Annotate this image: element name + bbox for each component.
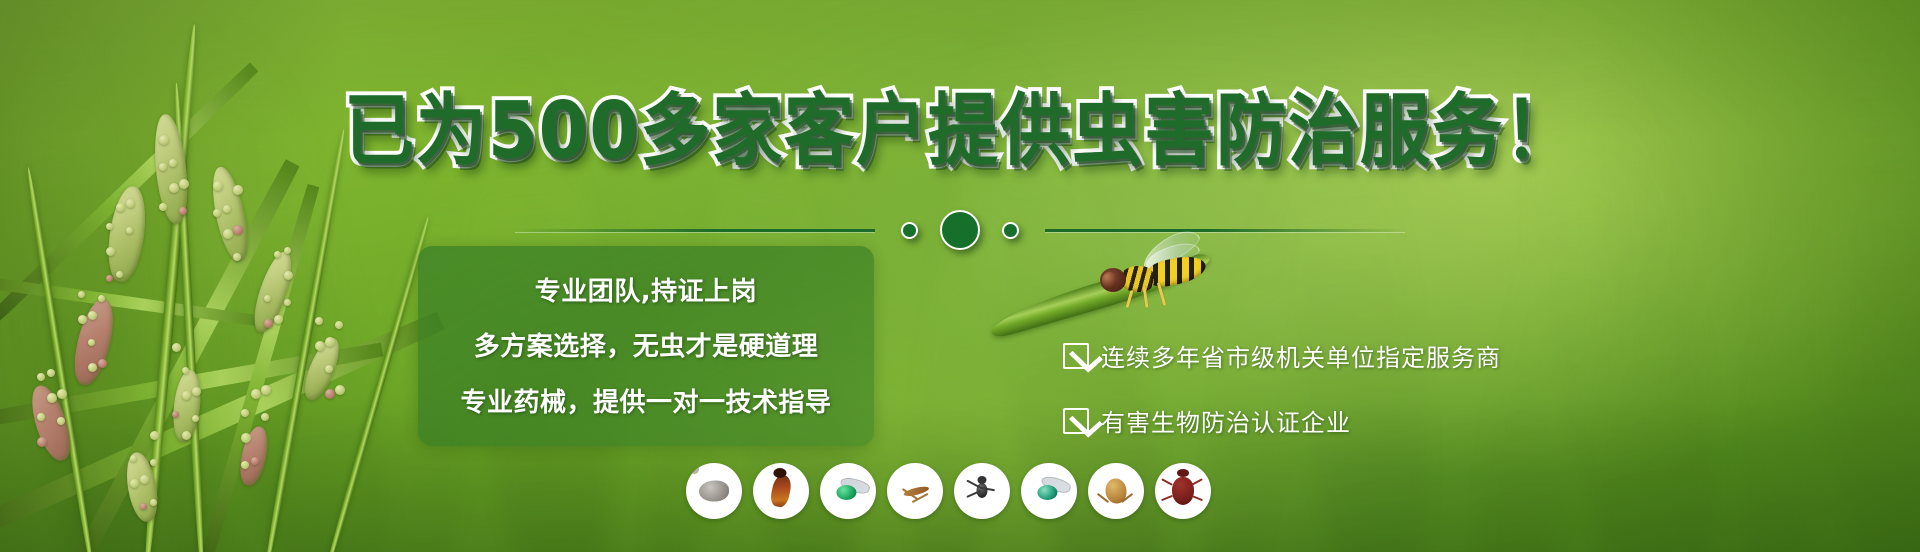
bedbug-leg-4: [1191, 495, 1203, 501]
divider-line-right: [1045, 229, 1405, 232]
plant-bud: [261, 413, 269, 421]
ant-icon[interactable]: [954, 463, 1010, 519]
plant-bud: [261, 385, 271, 395]
plant-spikelet: [248, 248, 299, 336]
plant-bud: [88, 339, 95, 346]
plant-bud: [116, 271, 123, 278]
plant-bud: [106, 275, 113, 282]
list-item: 连续多年省市级机关单位指定服务商: [1063, 338, 1501, 373]
plant-bud: [241, 461, 249, 469]
mouse-icon[interactable]: [686, 463, 742, 519]
plant-bud: [88, 363, 97, 372]
plant-bud: [325, 337, 335, 347]
bullet-label: 有害生物防治认证企业: [1101, 403, 1351, 438]
plant-bud: [88, 311, 97, 320]
bedbug-leg-3: [1161, 495, 1173, 501]
plant-bud: [182, 391, 191, 400]
plant-bud: [57, 417, 65, 425]
green-fly-icon[interactable]: [820, 463, 876, 519]
plant-bud: [241, 433, 251, 443]
plant-bud: [98, 359, 107, 368]
certification-bullet-list: 连续多年省市级机关单位指定服务商 有害生物防治认证企业: [1063, 338, 1501, 438]
banner-headline-text: 已为500多家客户提供虫害防治服务！: [344, 68, 1576, 181]
plant-bud: [172, 411, 179, 418]
plant-bud: [47, 369, 55, 377]
decorative-dot-small-left: [901, 222, 918, 239]
plant-bud: [98, 295, 105, 302]
plant-bud: [182, 431, 191, 440]
plant-bud: [150, 431, 159, 440]
plant-bud: [233, 185, 243, 195]
plant-bud: [130, 479, 139, 488]
checkbox-checked-icon: [1063, 408, 1089, 434]
plant-bud: [274, 315, 283, 324]
plant-bud: [315, 341, 325, 351]
list-item: 有害生物防治认证企业: [1063, 403, 1501, 438]
plant-bud: [140, 475, 149, 484]
plant-bud: [264, 295, 271, 302]
plant-bud: [57, 389, 67, 399]
bedbug-leg-1: [1161, 478, 1173, 485]
mosquito-icon[interactable]: [887, 463, 943, 519]
plant-bud: [140, 503, 147, 510]
feature-panel: 专业团队,持证上岗 多方案选择，无虫才是硬道理 专业药械，提供一对一技术指导: [418, 246, 874, 446]
plant-stalk: [320, 216, 431, 552]
flea-icon[interactable]: [1088, 463, 1144, 519]
feature-panel-line-1: 专业团队,持证上岗: [535, 271, 757, 308]
plant-bud: [37, 437, 47, 447]
mouse-ear: [690, 465, 699, 474]
plant-bud: [192, 415, 199, 422]
decorative-dot-small-right: [1002, 222, 1019, 239]
plant-bud: [179, 179, 189, 189]
plant-bud: [78, 315, 87, 324]
plant-bud: [37, 413, 45, 421]
fly-icon[interactable]: [1021, 463, 1077, 519]
plant-bud: [264, 319, 273, 328]
fly-body: [1037, 485, 1057, 500]
plant-bud: [335, 321, 343, 329]
plant-bud: [182, 367, 189, 374]
cockroach-icon[interactable]: [753, 463, 809, 519]
plant-bud: [241, 409, 249, 417]
banner-headline: 已为500多家客户提供虫害防治服务！: [0, 74, 1920, 175]
plant-bud: [192, 387, 201, 396]
cockroach-head: [773, 468, 786, 478]
plant-bud: [150, 459, 157, 466]
bullet-label: 连续多年省市级机关单位指定服务商: [1101, 338, 1501, 373]
hoverfly-icon: [1094, 240, 1210, 310]
hoverfly-eye: [1102, 272, 1117, 289]
ant-head: [978, 476, 987, 484]
decorative-dot-large: [940, 210, 980, 250]
hoverfly-leg-1: [1126, 290, 1134, 308]
bedbug-head: [1177, 469, 1189, 477]
plant-bud: [78, 291, 85, 298]
pest-type-icon-row: [686, 463, 1211, 519]
mouse-body: [699, 481, 729, 502]
divider-line-left: [515, 229, 875, 232]
plant-bud: [315, 317, 323, 325]
bedbug-body: [1172, 477, 1194, 505]
plant-bud: [335, 385, 345, 395]
plant-bud: [284, 299, 291, 306]
checkbox-checked-icon: [1063, 343, 1089, 369]
plant-bud: [213, 181, 223, 191]
plant-bud: [169, 183, 179, 193]
plant-bud: [274, 251, 281, 258]
pest-control-hero-banner: 已为500多家客户提供虫害防治服务！ 专业团队,持证上岗 多方案选择，无虫才是硬…: [0, 0, 1920, 552]
plant-bud: [251, 389, 261, 399]
feature-panel-line-3: 专业药械，提供一对一技术指导: [460, 382, 831, 419]
plant-bud: [37, 373, 45, 381]
plant-bud: [251, 457, 259, 465]
bedbug-leg-2: [1191, 478, 1203, 485]
plant-bud: [233, 253, 241, 261]
decorative-divider: [0, 210, 1920, 250]
feature-panel-line-2: 多方案选择，无虫才是硬道理: [474, 326, 819, 363]
plant-bud: [47, 393, 57, 403]
plant-bud: [172, 343, 181, 352]
plant-bud: [325, 389, 335, 399]
plant-bud: [130, 455, 137, 462]
cockroach-body: [769, 473, 793, 508]
bedbug-icon[interactable]: [1155, 463, 1211, 519]
green-fly-body: [836, 485, 856, 500]
plant-bud: [150, 499, 157, 506]
plant-bud: [126, 199, 135, 208]
plant-bud: [284, 271, 293, 280]
plant-bud: [325, 365, 333, 373]
